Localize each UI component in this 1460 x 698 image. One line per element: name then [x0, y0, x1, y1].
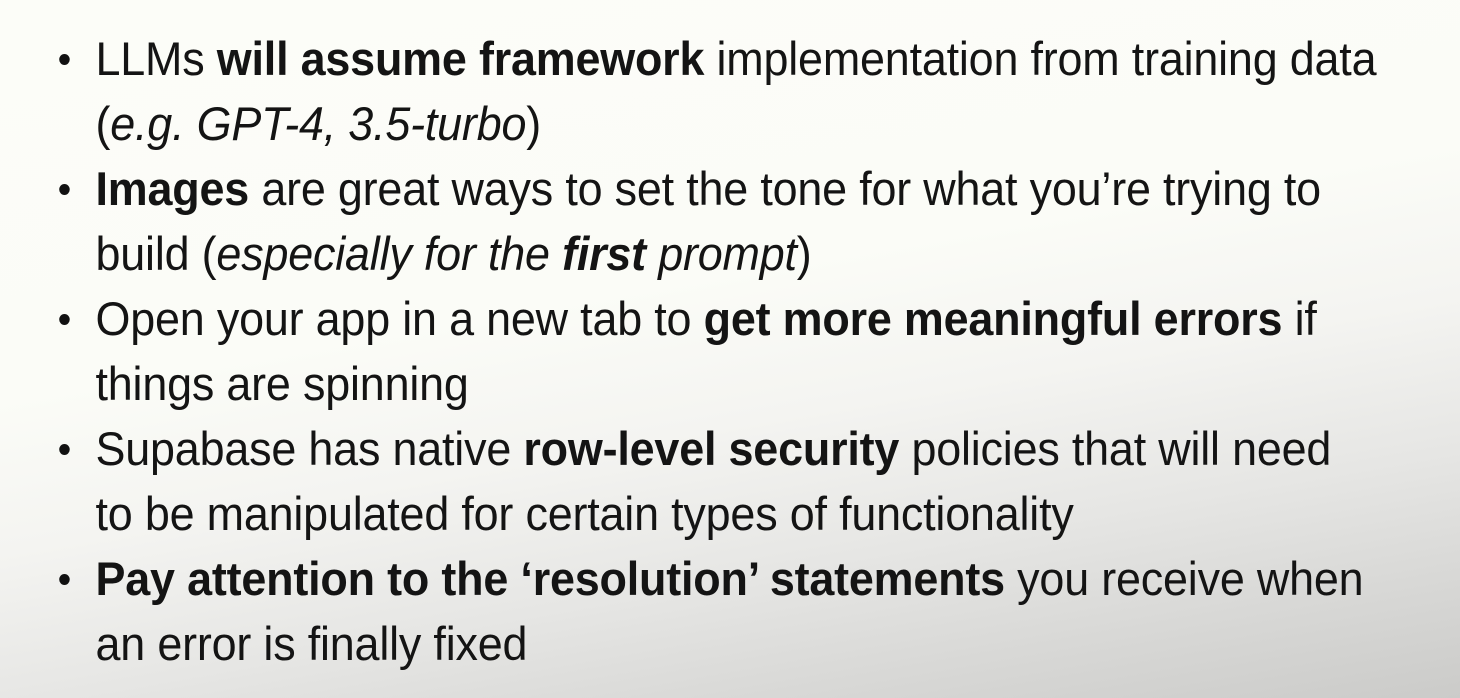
bullet-point-icon: [59, 314, 70, 325]
bullet-text-images-set-tone: Images are great ways to set the tone fo…: [96, 156, 1378, 286]
bullet-list: LLMs will assume framework implementatio…: [0, 26, 1460, 676]
bullet-point-icon: [59, 184, 70, 195]
bullet-text-supabase-row-level-security: Supabase has native row-level security p…: [96, 416, 1378, 546]
list-item: Images are great ways to set the tone fo…: [0, 156, 1394, 286]
list-item: Open your app in a new tab to get more m…: [0, 286, 1394, 416]
list-item: LLMs will assume framework implementatio…: [0, 26, 1394, 156]
bullet-text-llm-framework-assumption: LLMs will assume framework implementatio…: [96, 26, 1378, 156]
bullet-text-resolution-statements: Pay attention to the ‘resolution’ statem…: [96, 546, 1378, 676]
slide-canvas: LLMs will assume framework implementatio…: [0, 0, 1460, 698]
bullet-text-open-app-new-tab: Open your app in a new tab to get more m…: [96, 286, 1378, 416]
bullet-point-icon: [59, 54, 70, 65]
list-item: Pay attention to the ‘resolution’ statem…: [0, 546, 1394, 676]
bullet-point-icon: [59, 574, 70, 585]
list-item: Supabase has native row-level security p…: [0, 416, 1394, 546]
bullet-point-icon: [59, 444, 70, 455]
